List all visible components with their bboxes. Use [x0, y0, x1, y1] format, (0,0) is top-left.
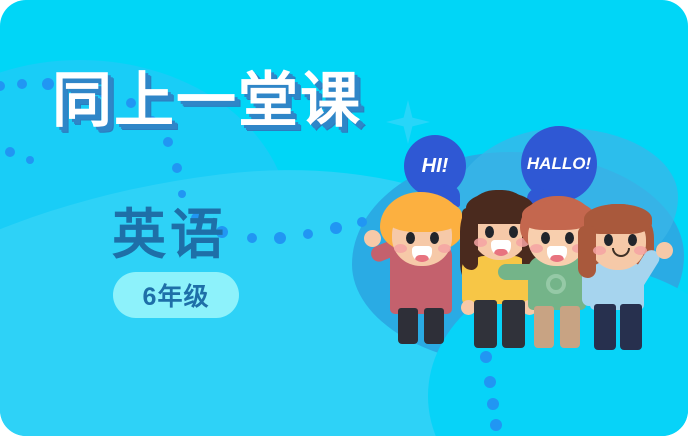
shirt-logo: [546, 274, 566, 294]
eye-right: [430, 232, 439, 244]
blush-right: [634, 246, 647, 255]
blush-left: [593, 246, 606, 255]
subject-title: 英语: [112, 190, 228, 269]
grade-badge: 6年级: [113, 272, 239, 318]
hair-fringe: [386, 198, 462, 232]
blush-right: [438, 244, 451, 253]
blush-left: [394, 244, 407, 253]
eye-right: [565, 232, 574, 244]
eye-left: [406, 232, 415, 244]
decor-dot: [484, 376, 496, 388]
hand-right: [656, 242, 673, 259]
eye-left: [485, 226, 494, 238]
decor-dot: [480, 351, 492, 363]
decor-dot: [487, 398, 499, 410]
blush-left: [530, 244, 543, 253]
hand-left: [364, 230, 381, 247]
child-girl-blue-shirt: [574, 200, 686, 350]
eye-left: [541, 232, 550, 244]
eye-right: [628, 234, 637, 246]
page-title: 同上一堂课: [52, 52, 362, 139]
eye-left: [604, 234, 613, 246]
blush-left: [474, 238, 487, 247]
text-column: 同上一堂课 英语 6年级: [0, 0, 360, 436]
decor-dot: [490, 419, 502, 431]
course-card: 同上一堂课 英语 6年级 HI! HALLO!: [0, 0, 688, 436]
